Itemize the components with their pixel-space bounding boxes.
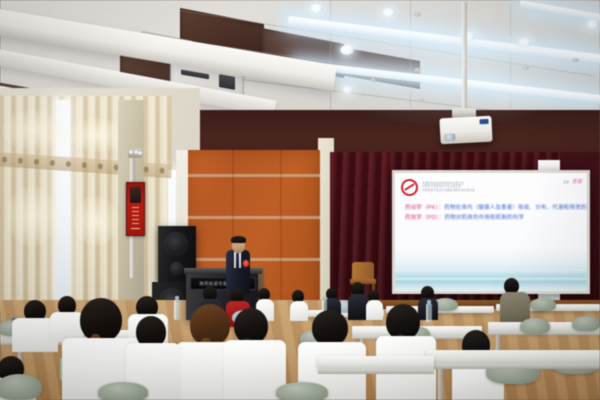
bottle-cap xyxy=(427,300,431,305)
audience-desk xyxy=(426,350,600,364)
audience-chair xyxy=(0,374,42,400)
bottle-cap xyxy=(175,296,179,301)
organization-logo xyxy=(401,179,418,196)
slide-speaker-label: 主讲 xyxy=(563,180,569,184)
projection-screen-frame: 中国医院协会药事管理专业委员会 中国药学会医院药学专业委员会 中国药理学会治疗药… xyxy=(392,170,590,294)
person-head xyxy=(234,308,268,344)
curtain-ring xyxy=(2,156,7,162)
wall-panel-seam xyxy=(188,258,320,261)
sunlight-patch xyxy=(6,186,58,246)
banner-text-line xyxy=(132,215,139,216)
vent-slot xyxy=(181,69,209,79)
presenter-tie xyxy=(236,253,239,268)
desk-edge xyxy=(318,369,434,374)
slide-bullet-line: 药效学（PD）：药物对机体的作用和机制的科学 xyxy=(405,213,579,223)
banner-text-line xyxy=(132,219,139,220)
recessed-downlight xyxy=(310,4,323,13)
slide-bullet-text: 药物在体内（健康人及患者）吸收、分布、代谢和排泄的动态变化规律 xyxy=(444,205,587,211)
curtain-ring xyxy=(18,158,23,164)
wall-panel-seam xyxy=(188,216,320,219)
banner-text-line xyxy=(132,211,139,212)
banner-text-line xyxy=(132,207,139,208)
curtain-ring xyxy=(98,163,103,169)
slide-bullet-text: 药物对机体的作用和机制的科学 xyxy=(445,215,525,221)
presenter-hair xyxy=(231,236,246,243)
sunlight-patch xyxy=(74,196,118,246)
person-torso xyxy=(348,294,368,320)
ceiling-speaker-icon xyxy=(370,78,376,82)
person-head xyxy=(312,310,348,346)
slide-organization-lines: 中国医院协会药事管理专业委员会 中国药学会医院药学专业委员会 中国药理学会治疗药… xyxy=(422,182,475,192)
banner-text-line xyxy=(131,228,140,229)
ceiling-grid-line xyxy=(330,0,331,110)
slide-bullet-title: 药动学（PK） xyxy=(405,205,439,211)
ceiling-speaker-icon xyxy=(418,98,424,102)
slide-bullet-line: 药动学（PK）：药物在体内（健康人及患者）吸收、分布、代谢和排泄的动态变化规律 xyxy=(405,203,579,213)
person-torso xyxy=(290,301,308,321)
water-bottle xyxy=(174,300,180,320)
curtain-ring xyxy=(82,162,87,168)
audience-desk xyxy=(318,356,434,369)
water-bottle xyxy=(426,304,432,322)
lecture-hall-photo: 中国医院协会药事管理专业委员会 中国药学会医院药学专业委员会 中国药理学会治疗药… xyxy=(0,0,600,400)
lamp-icon xyxy=(138,151,142,155)
curtain-ring xyxy=(143,166,148,172)
desk-edge xyxy=(426,364,600,369)
ceiling-mounted-projector xyxy=(439,116,492,145)
bottle-cap xyxy=(323,297,326,301)
red-corsage xyxy=(243,260,249,267)
slide-body: 药动学（PK）：药物在体内（健康人及患者）吸收、分布、代谢和排泄的动态变化规律 … xyxy=(405,203,579,223)
speaker-cone xyxy=(164,232,188,256)
wall-panel-seam xyxy=(188,174,320,177)
ceiling-speaker-icon xyxy=(522,66,529,70)
audience-chair xyxy=(520,318,550,334)
slide-header: 中国医院协会药事管理专业委员会 中国药学会医院药学专业委员会 中国药理学会治疗药… xyxy=(401,177,581,197)
wall-light-fixture xyxy=(128,148,142,158)
red-honor-banner xyxy=(126,182,145,236)
smoke-detector-icon xyxy=(572,58,579,62)
recessed-downlight xyxy=(586,20,599,29)
recessed-downlight xyxy=(342,86,353,94)
ceiling-speaker-icon xyxy=(414,68,421,72)
projector-lens xyxy=(444,134,455,142)
slide-top-right-mark: 主讲 签名 xyxy=(563,178,582,185)
wall-panel-seam xyxy=(280,150,282,310)
recessed-downlight xyxy=(518,38,531,47)
recessed-downlight xyxy=(382,8,395,17)
audience-chair xyxy=(276,382,328,400)
recessed-downlight xyxy=(340,45,354,55)
vent-slot xyxy=(219,74,235,90)
projector-mount-pole xyxy=(462,2,467,110)
sunlight-patch xyxy=(2,110,66,150)
curtain-ring xyxy=(66,161,71,167)
podium-top-surface xyxy=(184,268,262,274)
slide-bullet-title: 药效学（PD） xyxy=(405,215,439,221)
banner-portrait xyxy=(130,187,141,203)
desk-leg xyxy=(438,369,443,400)
audience-chair xyxy=(98,382,148,400)
speaker-cone xyxy=(170,262,183,275)
curtain-ring xyxy=(50,160,55,166)
person-torso xyxy=(366,300,383,320)
audience-chair xyxy=(572,316,600,331)
person-head xyxy=(80,298,122,342)
projection-screen: 中国医院协会药事管理专业委员会 中国药学会医院药学专业委员会 中国药理学会治疗药… xyxy=(395,173,587,291)
banner-text-line xyxy=(132,223,139,224)
audience-chair xyxy=(530,298,556,311)
curtain-ring xyxy=(34,159,39,165)
curtain-ring xyxy=(159,167,164,173)
slide-signature-mark: 签名 xyxy=(572,178,582,185)
ceiling-grid-line xyxy=(410,0,411,108)
stage-chair xyxy=(352,262,374,280)
lamp-icon xyxy=(129,150,133,154)
smoke-detector-icon xyxy=(414,12,421,17)
